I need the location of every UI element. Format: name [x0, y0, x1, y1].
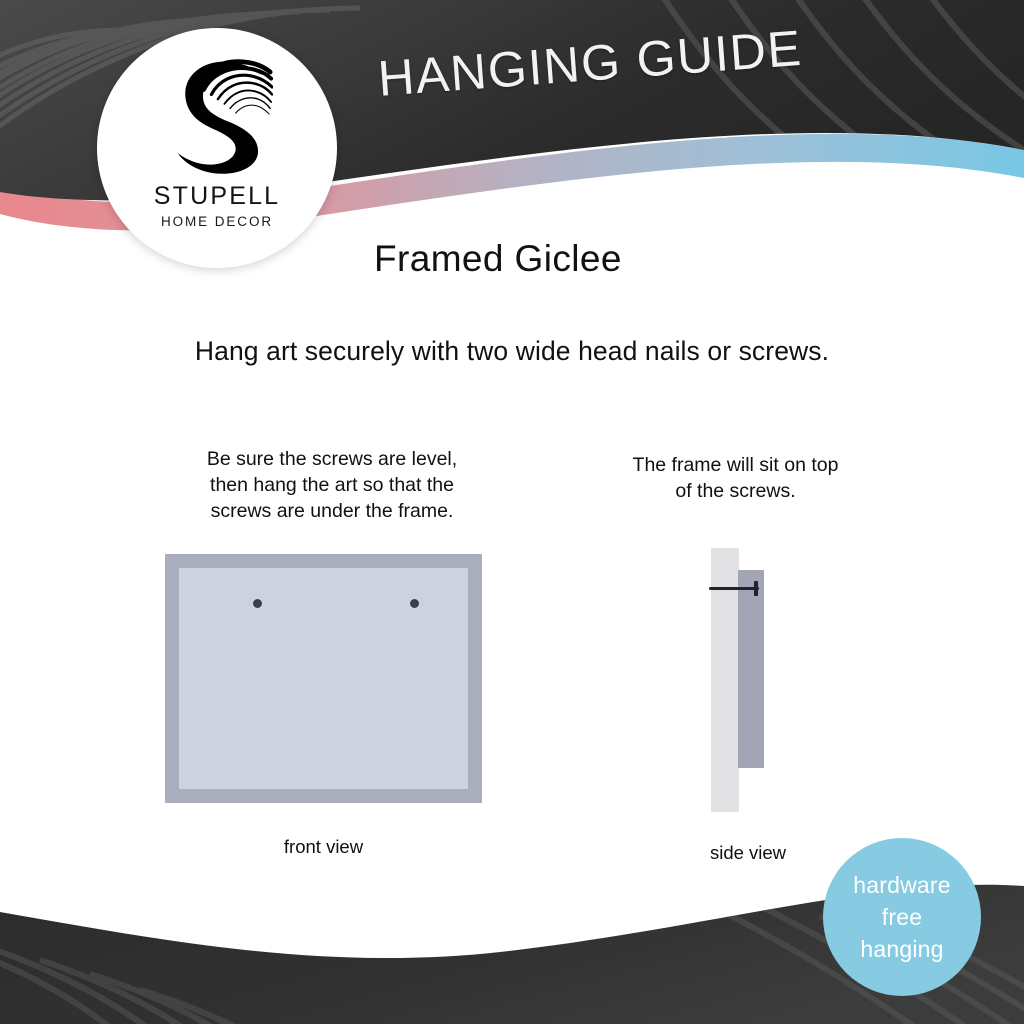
side-view-caption-line-1: The frame will sit on top — [583, 452, 888, 478]
front-view-caption-line-1: Be sure the screws are level, — [160, 446, 504, 472]
nail-shaft-icon — [709, 587, 759, 590]
front-view-diagram — [165, 554, 482, 803]
front-view-caption-line-3: screws are under the frame. — [160, 498, 504, 524]
hanging-guide-page: HANGING GUIDE STUPELL HOME DECOR Framed … — [0, 0, 1024, 1024]
front-view-label: front view — [165, 836, 482, 858]
front-view-caption-line-2: then hang the art so that the — [160, 472, 504, 498]
nail-head-icon — [754, 581, 758, 596]
screw-marker-right — [410, 599, 419, 608]
brand-logo-badge: STUPELL HOME DECOR — [97, 28, 337, 268]
frame-strip — [738, 570, 764, 768]
brand-tagline: HOME DECOR — [161, 214, 273, 229]
screw-marker-left — [253, 599, 262, 608]
side-view-diagram — [700, 540, 800, 825]
hardware-free-hanging-badge: hardware free hanging — [823, 838, 981, 996]
badge-line-3: hanging — [860, 933, 943, 965]
front-view-artwork-area — [179, 568, 468, 789]
front-view-caption: Be sure the screws are level, then hang … — [160, 446, 504, 524]
main-instruction-text: Hang art securely with two wide head nai… — [0, 336, 1024, 367]
product-subtitle: Framed Giclee — [374, 238, 622, 280]
side-view-caption: The frame will sit on top of the screws. — [583, 452, 888, 504]
badge-line-2: free — [882, 901, 922, 933]
page-title: HANGING GUIDE — [376, 19, 804, 108]
side-view-caption-line-2: of the screws. — [583, 478, 888, 504]
stupell-swoosh-s-logo-icon — [161, 56, 273, 174]
side-view-label: side view — [668, 842, 828, 864]
badge-line-1: hardware — [853, 869, 951, 901]
brand-name: STUPELL — [154, 182, 281, 211]
